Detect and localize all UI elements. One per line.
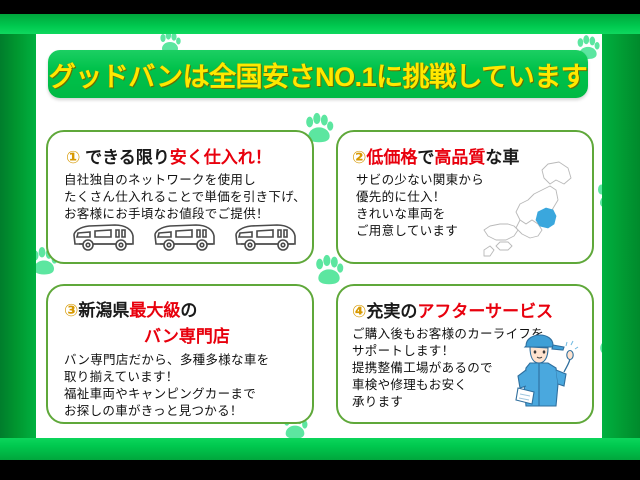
feature-3-heading-tail: の [180, 301, 197, 320]
advertisement-poster: グッドバンは全国安さNO.1に挑戦しています ① できる限り安く仕入れ！ 自社独… [0, 0, 640, 480]
feature-4-heading: ④充実のアフターサービス [352, 297, 553, 322]
mechanic-illustration [506, 330, 578, 414]
feature-1-body: 自社独自のネットワークを使用し たくさん仕入れることで単価を引き下げ、 お客様に… [64, 172, 306, 223]
feature-box-1: ① できる限り安く仕入れ！ 自社独自のネットワークを使用し たくさん仕入れること… [46, 130, 314, 264]
feature-2-heading-accent: 低価格 [366, 148, 417, 167]
paw-print-icon [314, 256, 344, 288]
poster-page: グッドバンは全国安さNO.1に挑戦しています ① できる限り安く仕入れ！ 自社独… [36, 34, 602, 438]
van-icon [70, 220, 138, 254]
feature-1-heading: ① できる限り安く仕入れ！ [66, 143, 272, 168]
japan-map-illustration [476, 160, 586, 260]
feature-3-number: ③ [64, 301, 78, 320]
feature-4-number: ④ [352, 302, 366, 321]
headline-banner: グッドバンは全国安さNO.1に挑戦しています [48, 50, 588, 98]
three-vans-illustration [70, 218, 300, 254]
paw-print-icon [598, 340, 602, 372]
feature-1-number: ① [66, 148, 80, 167]
headline-text: グッドバンは全国安さNO.1に挑戦しています [49, 55, 588, 94]
feature-2-number: ② [352, 148, 366, 167]
feature-4-heading-plain: 充実の [366, 302, 417, 321]
feature-3-heading-line1: ③新潟県最大級の [64, 296, 197, 321]
feature-3-body: バン専門店だから、多種多様な車を 取り揃えています！ 福祉車両やキャンピングカー… [64, 352, 269, 420]
feature-1-heading-plain: できる限り [80, 148, 169, 167]
feature-2-body: サビの少ない関東から 優先的に仕入！ きれいな車両を ご用意しています [356, 172, 484, 240]
feature-4-heading-accent: アフターサービス [417, 302, 553, 321]
feature-3-heading-accent: 最大級 [129, 301, 180, 320]
feature-1-heading-accent: 安く仕入れ！ [170, 148, 272, 167]
van-icon [232, 220, 300, 254]
frame-left-band [0, 34, 36, 438]
van-icon [151, 220, 219, 254]
feature-box-4: ④充実のアフターサービス ご購入後もお客様のカーライフを サポートします！ 提携… [336, 284, 594, 424]
frame-top-band [0, 14, 640, 36]
paw-print-icon [596, 182, 602, 212]
feature-box-3: ③新潟県最大級の バン専門店 バン専門店だから、多種多様な車を 取り揃えています… [46, 284, 314, 424]
feature-3-heading-line2: バン専門店 [144, 322, 230, 347]
frame-right-band [602, 34, 640, 438]
feature-2-heading-mid: で [417, 148, 434, 167]
feature-3-heading-plain: 新潟県 [78, 301, 129, 320]
feature-box-2: ②低価格で高品質な車 サビの少ない関東から 優先的に仕入！ きれいな車両を ご用… [336, 130, 594, 264]
